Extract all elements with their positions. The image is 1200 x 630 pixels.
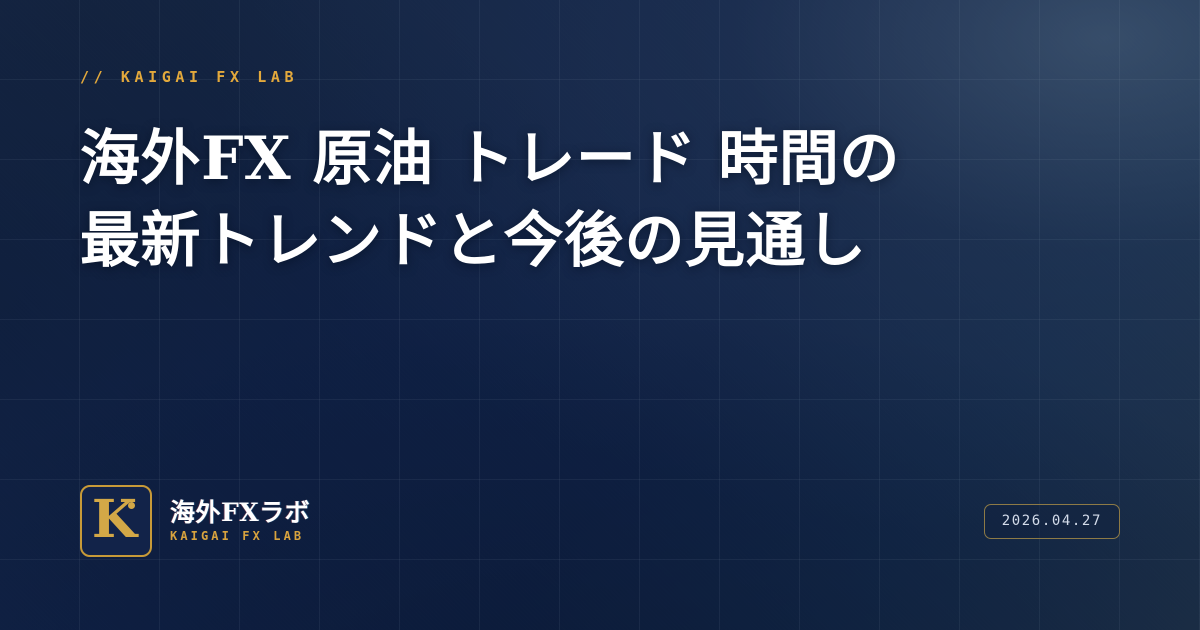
page-title-line-1: 海外FX 原油 トレード 時間の <box>80 118 1060 200</box>
og-card: // KAIGAI FX LAB 海外FX 原油 トレード 時間の 最新トレンド… <box>0 0 1200 630</box>
card-footer: K 海外FXラボ KAIGAI FX LAB 2026.04.27 <box>80 484 1120 558</box>
date-badge: 2026.04.27 <box>984 504 1120 539</box>
logo-accent-dot-icon <box>128 502 135 509</box>
brand-name-en: KAIGAI FX LAB <box>170 530 310 543</box>
card-content: // KAIGAI FX LAB 海外FX 原油 トレード 時間の 最新トレンド… <box>0 0 1200 630</box>
brand-name-ja: 海外FXラボ <box>170 499 310 527</box>
logo-mark: K <box>80 485 152 557</box>
eyebrow-label: // KAIGAI FX LAB <box>80 68 298 86</box>
page-title-line-2: 最新トレンドと今後の見通し <box>80 200 1060 282</box>
brand-text: 海外FXラボ KAIGAI FX LAB <box>170 499 310 543</box>
brand-lockup: K 海外FXラボ KAIGAI FX LAB <box>80 485 310 557</box>
page-title: 海外FX 原油 トレード 時間の 最新トレンドと今後の見通し <box>80 118 1060 282</box>
